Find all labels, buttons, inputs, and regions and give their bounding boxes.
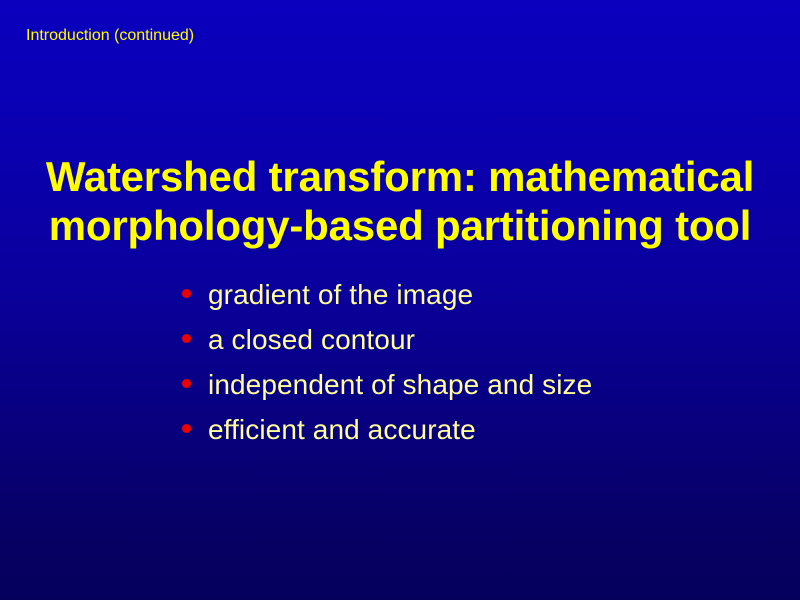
slide-header-text: Introduction (continued)	[26, 26, 194, 46]
slide-title: Watershed transform: mathematical morpho…	[0, 152, 800, 250]
slide-title-line-2: morphology-based partitioning tool	[0, 201, 800, 250]
bullet-item-label: efficient and accurate	[208, 407, 476, 452]
bullet-item-label: gradient of the image	[208, 272, 473, 317]
bullet-dot-icon	[182, 289, 191, 298]
bullet-dot-icon	[182, 379, 191, 388]
list-item: gradient of the image	[182, 272, 592, 317]
bullet-list: gradient of the image a closed contour i…	[182, 272, 592, 452]
list-item: independent of shape and size	[182, 362, 592, 407]
bullet-dot-icon	[182, 334, 191, 343]
presentation-slide: Introduction (continued) Watershed trans…	[0, 0, 800, 600]
bullet-item-label: a closed contour	[208, 317, 415, 362]
slide-title-line-1: Watershed transform: mathematical	[0, 152, 800, 201]
bullet-dot-icon	[182, 424, 191, 433]
bullet-item-label: independent of shape and size	[208, 362, 592, 407]
list-item: a closed contour	[182, 317, 592, 362]
list-item: efficient and accurate	[182, 407, 592, 452]
